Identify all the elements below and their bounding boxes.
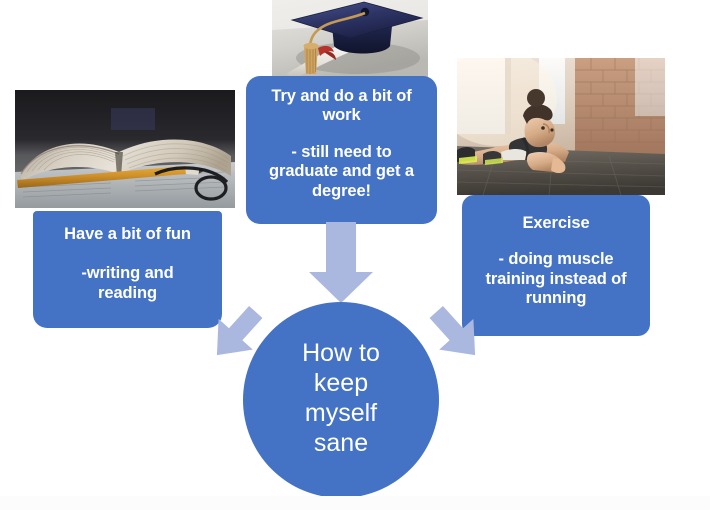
card-exercise-detail-line2: training instead of (471, 270, 641, 289)
card-exercise-detail-line3: running (471, 289, 641, 308)
open-book-with-pencil-and-glasses-photo (15, 90, 235, 208)
woman-doing-plank-exercise-photo (457, 58, 665, 195)
card-exercise-heading: Exercise (471, 214, 641, 233)
branch-card-work[interactable]: Try and do a bit of work - still need to… (246, 76, 437, 224)
hub-circle[interactable]: How to keep myself sane (243, 302, 439, 498)
hub-label-line4: sane (314, 429, 368, 457)
hub-label-line2: keep (314, 369, 368, 397)
card-fun-detail-line2: reading (43, 284, 212, 303)
bottom-band (0, 496, 710, 510)
hub-label-line1: How to (302, 339, 380, 367)
graduation-cap-and-diploma-photo (272, 0, 428, 78)
hub-label: How to keep myself sane (302, 338, 380, 462)
arrow-down (307, 222, 375, 304)
branch-card-fun[interactable]: Have a bit of fun -writing and reading (33, 211, 222, 328)
diagram-canvas: Have a bit of fun -writing and reading T… (0, 0, 710, 510)
card-work-heading-line1: Try and do a bit of (255, 87, 428, 106)
card-work-detail-line1: - still need to (255, 143, 428, 162)
hub-label-line3: myself (305, 399, 377, 427)
card-fun-detail-line1: -writing and (43, 264, 212, 283)
card-fun-heading: Have a bit of fun (43, 225, 212, 244)
card-exercise-detail-line1: - doing muscle (471, 250, 641, 269)
card-work-detail-line3: degree! (255, 182, 428, 201)
card-work-heading-line2: work (255, 106, 428, 125)
card-work-detail-line2: graduate and get a (255, 162, 428, 181)
